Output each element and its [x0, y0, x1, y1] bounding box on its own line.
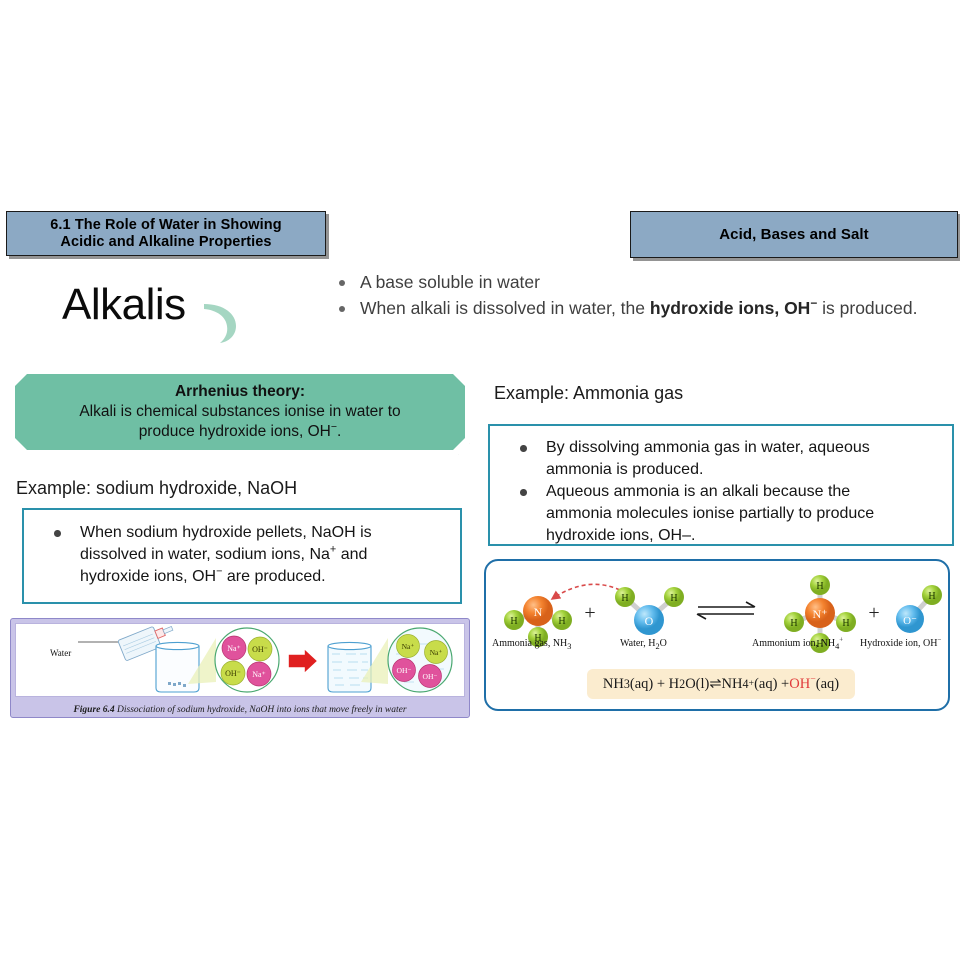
- svg-text:H: H: [558, 616, 565, 627]
- section-title-banner: 6.1 The Role of Water in Showing Acidic …: [6, 211, 326, 256]
- hydroxide-highlight: OH−: [789, 676, 816, 693]
- svg-text:OH⁻: OH⁻: [225, 669, 241, 678]
- figure-caption-text: Dissociation of sodium hydroxide, NaOH i…: [115, 705, 407, 715]
- svg-text:H: H: [621, 593, 628, 604]
- svg-text:H: H: [842, 618, 849, 629]
- water-label: Water: [50, 648, 71, 658]
- bullet-naoh-dissociation: When sodium hydroxide pellets, NaOH is d…: [24, 522, 460, 588]
- figure-6-4-image: Na⁺ OH⁻ OH⁻ Na⁺: [15, 623, 465, 697]
- svg-text:O⁻: O⁻: [903, 615, 917, 627]
- svg-text:+: +: [584, 602, 595, 624]
- example-ammonia-gas-label: Example: Ammonia gas: [494, 383, 683, 404]
- chapter-title-banner: Acid, Bases and Salt: [630, 211, 958, 258]
- svg-text:Na⁺: Na⁺: [252, 670, 266, 679]
- svg-text:N: N: [534, 605, 543, 619]
- figure-6-4-panel: Na⁺ OH⁻ OH⁻ Na⁺: [10, 618, 470, 718]
- svg-text:H: H: [790, 618, 797, 629]
- sodium-hydroxide-info-box: When sodium hydroxide pellets, NaOH is d…: [22, 508, 462, 604]
- bullet-base-soluble: A base soluble in water: [318, 270, 918, 295]
- swoosh-decoration-icon: [198, 300, 242, 344]
- bullet-aqueous-ammonia: By dissolving ammonia gas in water, aque…: [490, 437, 952, 481]
- ammonia-info-box: By dissolving ammonia gas in water, aque…: [488, 424, 954, 546]
- arrhenius-title: Arrhenius theory:: [175, 382, 305, 402]
- svg-text:Na⁺: Na⁺: [430, 648, 443, 657]
- slide-canvas: 6.1 The Role of Water in Showing Acidic …: [0, 0, 960, 960]
- naoh-dissociation-illustration: Na⁺ OH⁻ OH⁻ Na⁺: [16, 624, 465, 696]
- example-sodium-hydroxide-label: Example: sodium hydroxide, NaOH: [16, 478, 297, 499]
- arrhenius-line1: Alkali is chemical substances ionise in …: [79, 402, 400, 422]
- molecule-illustration: H H H N + H H O: [486, 563, 948, 667]
- svg-text:OH⁻: OH⁻: [423, 672, 438, 681]
- label-ammonia-gas: Ammonia gas, NH3: [492, 638, 571, 651]
- ammonia-ionisation-diagram: H H H N + H H O: [484, 559, 950, 711]
- figure-caption-number: Figure 6.4: [73, 705, 114, 715]
- svg-text:OH⁻: OH⁻: [397, 666, 412, 675]
- arrhenius-line2: produce hydroxide ions, OH−.: [139, 422, 342, 442]
- label-hydroxide-ion: Hydroxide ion, OH−: [860, 638, 941, 649]
- bullet-hydroxide-produced: When alkali is dissolved in water, the h…: [318, 296, 918, 321]
- ionisation-equation: NH3(aq) + H2O(l) ⇌ NH4+(aq) + OH−(aq): [587, 669, 855, 699]
- svg-text:Na⁺: Na⁺: [402, 642, 415, 651]
- alkali-definition-bullets: A base soluble in water When alkali is d…: [318, 270, 918, 322]
- section-title-line2: Acidic and Alkaline Properties: [50, 234, 281, 251]
- bullet-ammonia-alkali: Aqueous ammonia is an alkali because the…: [490, 481, 952, 547]
- svg-text:+: +: [868, 602, 879, 624]
- figure-caption: Figure 6.4 Dissociation of sodium hydrox…: [11, 705, 469, 715]
- label-ammonium-ion: Ammonium ion, NH4+: [752, 638, 843, 651]
- section-title-line1: 6.1 The Role of Water in Showing: [50, 217, 281, 234]
- label-water: Water, H2O: [620, 638, 667, 651]
- svg-text:Na⁺: Na⁺: [227, 644, 241, 653]
- page-title: Alkalis: [62, 283, 186, 327]
- svg-text:H: H: [510, 616, 517, 627]
- svg-text:O: O: [645, 614, 654, 628]
- svg-text:OH⁻: OH⁻: [252, 645, 268, 654]
- svg-text:H: H: [928, 591, 935, 602]
- svg-text:N⁺: N⁺: [813, 607, 828, 621]
- arrhenius-theory-box: Arrhenius theory: Alkali is chemical sub…: [15, 374, 465, 450]
- svg-text:H: H: [816, 581, 823, 592]
- svg-text:H: H: [670, 593, 677, 604]
